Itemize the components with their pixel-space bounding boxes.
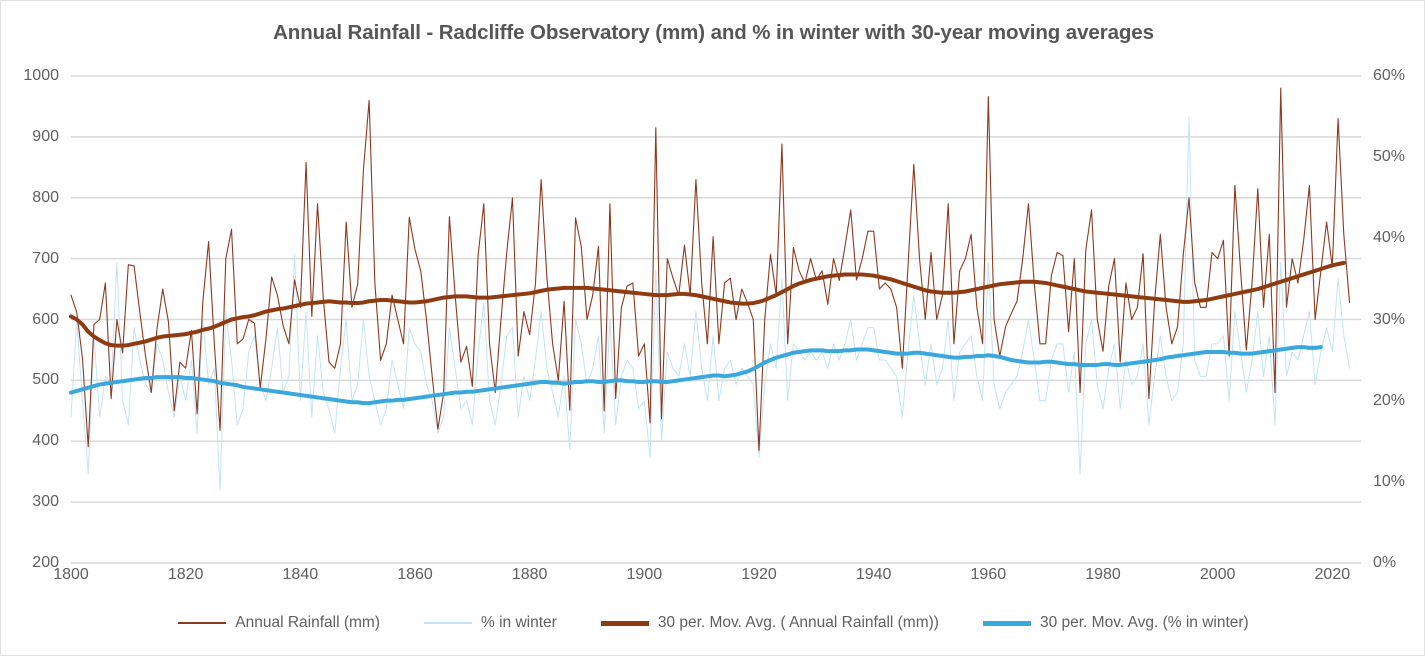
y-axis-right-tick: 60% <box>1373 67 1425 85</box>
legend-swatch-icon <box>178 622 226 624</box>
y-axis-left-tick: 1000 <box>11 67 59 85</box>
legend-item[interactable]: 30 per. Mov. Avg. (% in winter) <box>983 614 1249 632</box>
legend-label: Annual Rainfall (mm) <box>235 614 380 632</box>
x-axis-tick: 2020 <box>1292 566 1372 584</box>
y-axis-left-tick: 300 <box>11 493 59 511</box>
y-axis-right-tick: 0% <box>1373 554 1425 572</box>
chart-legend: Annual Rainfall (mm)% in winter30 per. M… <box>1 614 1425 632</box>
y-axis-left-tick: 500 <box>11 371 59 389</box>
legend-item[interactable]: Annual Rainfall (mm) <box>178 614 380 632</box>
y-axis-left-tick: 600 <box>11 311 59 329</box>
chart-container: Annual Rainfall - Radcliffe Observatory … <box>0 0 1425 656</box>
x-axis-tick: 1800 <box>31 566 111 584</box>
x-axis-tick: 1880 <box>490 566 570 584</box>
x-axis-tick: 1920 <box>719 566 799 584</box>
x-axis-tick: 1840 <box>260 566 340 584</box>
series-line <box>71 117 1350 490</box>
legend-label: 30 per. Mov. Avg. ( Annual Rainfall (mm)… <box>658 614 939 632</box>
legend-swatch-icon <box>424 622 472 624</box>
y-axis-right-tick: 30% <box>1373 311 1425 329</box>
x-axis-tick: 1980 <box>1063 566 1143 584</box>
x-axis-tick: 1820 <box>146 566 226 584</box>
legend-item[interactable]: % in winter <box>424 614 557 632</box>
x-axis-tick: 1960 <box>948 566 1028 584</box>
series-line <box>71 88 1350 450</box>
x-axis-tick: 2000 <box>1178 566 1258 584</box>
legend-item[interactable]: 30 per. Mov. Avg. ( Annual Rainfall (mm)… <box>601 614 939 632</box>
plot-area <box>71 76 1361 563</box>
x-axis-tick: 1860 <box>375 566 455 584</box>
y-axis-right-tick: 10% <box>1373 473 1425 491</box>
y-axis-right-tick: 20% <box>1373 392 1425 410</box>
y-axis-right-tick: 40% <box>1373 229 1425 247</box>
legend-swatch-icon <box>601 621 649 626</box>
x-axis-tick: 1900 <box>604 566 684 584</box>
y-axis-left-tick: 700 <box>11 250 59 268</box>
legend-label: % in winter <box>481 614 557 632</box>
x-axis-tick: 1940 <box>834 566 914 584</box>
chart-title: Annual Rainfall - Radcliffe Observatory … <box>1 21 1425 45</box>
y-axis-left-tick: 900 <box>11 128 59 146</box>
y-axis-left-tick: 400 <box>11 432 59 450</box>
y-axis-left-tick: 800 <box>11 189 59 207</box>
series-line <box>71 347 1321 403</box>
legend-swatch-icon <box>983 621 1031 626</box>
y-axis-right-tick: 50% <box>1373 148 1425 166</box>
legend-label: 30 per. Mov. Avg. (% in winter) <box>1040 614 1249 632</box>
plot-svg <box>71 76 1361 563</box>
